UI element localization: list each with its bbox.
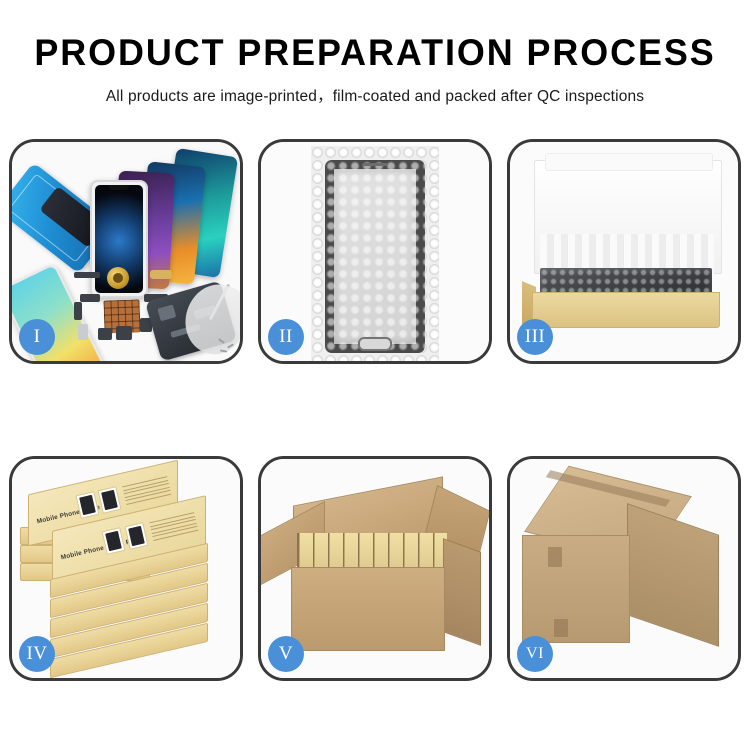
screws-group [218, 340, 240, 354]
box-front-panel [532, 292, 720, 328]
bubble-wrap-sheet [311, 146, 439, 363]
sealed-carton-right-side [627, 503, 719, 647]
phone-notch [109, 185, 129, 190]
step-badge-5: V [268, 636, 304, 672]
step-badge-4: IV [19, 636, 55, 672]
step-badge-2: II [268, 319, 304, 355]
process-step-panel-2[interactable]: II [258, 139, 492, 364]
product-preparation-process-page: PRODUCT PREPARATION PROCESS All products… [0, 0, 750, 750]
page-header: PRODUCT PREPARATION PROCESS All products… [0, 0, 750, 106]
home-button-slot [358, 337, 392, 351]
carton-tab-upper [548, 547, 562, 567]
speaker-part [98, 328, 112, 340]
step-badge-3: III [517, 319, 553, 355]
sim-tray-part [78, 324, 88, 340]
process-step-panel-4[interactable]: Mobile Phone Spare Parts Mobile Phone Sp… [9, 456, 243, 681]
process-step-panel-3[interactable]: III [507, 139, 741, 364]
coil-part-icon [107, 267, 129, 289]
gold-bracket-part [150, 270, 172, 279]
process-step-panel-5[interactable]: V [258, 456, 492, 681]
process-step-panel-1[interactable]: I [9, 139, 243, 364]
process-steps-grid: I II III [9, 139, 741, 681]
step-badge-6: VI [517, 636, 553, 672]
process-step-panel-6[interactable]: VI [507, 456, 741, 681]
flex-cable-part [74, 302, 82, 320]
carton-front-panel [291, 567, 445, 651]
sealed-carton-front [522, 535, 630, 643]
carton-tab-lower [554, 619, 568, 637]
boxed-screen-image [540, 268, 712, 294]
vibrator-part [116, 326, 132, 340]
carton-right-side [443, 538, 481, 646]
step-badge-1: I [19, 319, 55, 355]
wrapped-screen-image [325, 160, 425, 353]
page-subtitle: All products are image-printed，film-coat… [0, 84, 750, 106]
page-title: PRODUCT PREPARATION PROCESS [11, 34, 739, 71]
connector-part [80, 294, 100, 302]
earpiece-slot [362, 163, 388, 166]
flex-strip-part [74, 272, 100, 278]
